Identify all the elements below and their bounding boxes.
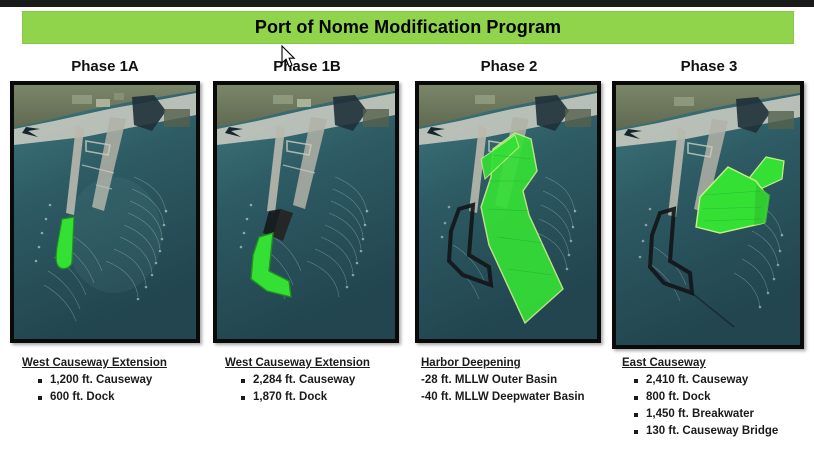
aerial-map-image-2 xyxy=(419,85,597,339)
map-panel-phase-1a[interactable] xyxy=(10,81,200,343)
map-panel-phase-1b[interactable] xyxy=(213,81,399,343)
page-title: Port of Nome Modification Program xyxy=(255,17,561,38)
phase-column-2: Phase 2 xyxy=(415,55,603,406)
caption-list-3: 2,410 ft. Causeway 800 ft. Dock 1,450 ft… xyxy=(612,372,806,440)
aerial-map-image-1b xyxy=(217,85,395,339)
aerial-map-image-1a xyxy=(14,85,196,339)
caption-block-1a: West Causeway Extension 1,200 ft. Causew… xyxy=(10,357,200,406)
caption-item: -40 ft. MLLW Deepwater Basin xyxy=(421,389,603,406)
caption-item: 130 ft. Causeway Bridge xyxy=(634,423,806,440)
caption-item: 600 ft. Dock xyxy=(38,389,200,406)
caption-title-2: Harbor Deepening xyxy=(421,357,603,369)
caption-block-1b: West Causeway Extension 2,284 ft. Causew… xyxy=(213,357,401,406)
caption-item: -28 ft. MLLW Outer Basin xyxy=(421,372,603,389)
phase-heading-1b: Phase 1B xyxy=(213,55,401,81)
caption-item: 800 ft. Dock xyxy=(634,389,806,406)
phase-heading-3: Phase 3 xyxy=(612,55,806,81)
caption-list-2: -28 ft. MLLW Outer Basin -40 ft. MLLW De… xyxy=(415,372,603,406)
phase-column-3: Phase 3 xyxy=(612,55,806,440)
caption-item: 1,200 ft. Causeway xyxy=(38,372,200,389)
phase-columns: Phase 1A xyxy=(0,55,814,457)
phase-column-1b: Phase 1B xyxy=(213,55,401,406)
aerial-map-image-3 xyxy=(616,85,800,345)
phase-heading-1a: Phase 1A xyxy=(10,55,200,81)
top-edge-band xyxy=(0,0,814,7)
phase-column-1a: Phase 1A xyxy=(10,55,200,406)
caption-title-3: East Causeway xyxy=(622,357,806,369)
caption-item: 2,284 ft. Causeway xyxy=(241,372,401,389)
caption-list-1a: 1,200 ft. Causeway 600 ft. Dock xyxy=(10,372,200,406)
map-panel-phase-2[interactable] xyxy=(415,81,601,343)
map-panel-phase-3[interactable] xyxy=(612,81,804,349)
caption-item: 2,410 ft. Causeway xyxy=(634,372,806,389)
caption-block-3: East Causeway 2,410 ft. Causeway 800 ft.… xyxy=(612,357,806,440)
phase-heading-2: Phase 2 xyxy=(415,55,603,81)
caption-title-1b: West Causeway Extension xyxy=(225,357,401,369)
caption-block-2: Harbor Deepening -28 ft. MLLW Outer Basi… xyxy=(415,357,603,406)
page-title-banner: Port of Nome Modification Program xyxy=(22,11,794,44)
caption-item: 1,450 ft. Breakwater xyxy=(634,406,806,423)
caption-title-1a: West Causeway Extension xyxy=(22,357,200,369)
caption-list-1b: 2,284 ft. Causeway 1,870 ft. Dock xyxy=(213,372,401,406)
caption-item: 1,870 ft. Dock xyxy=(241,389,401,406)
